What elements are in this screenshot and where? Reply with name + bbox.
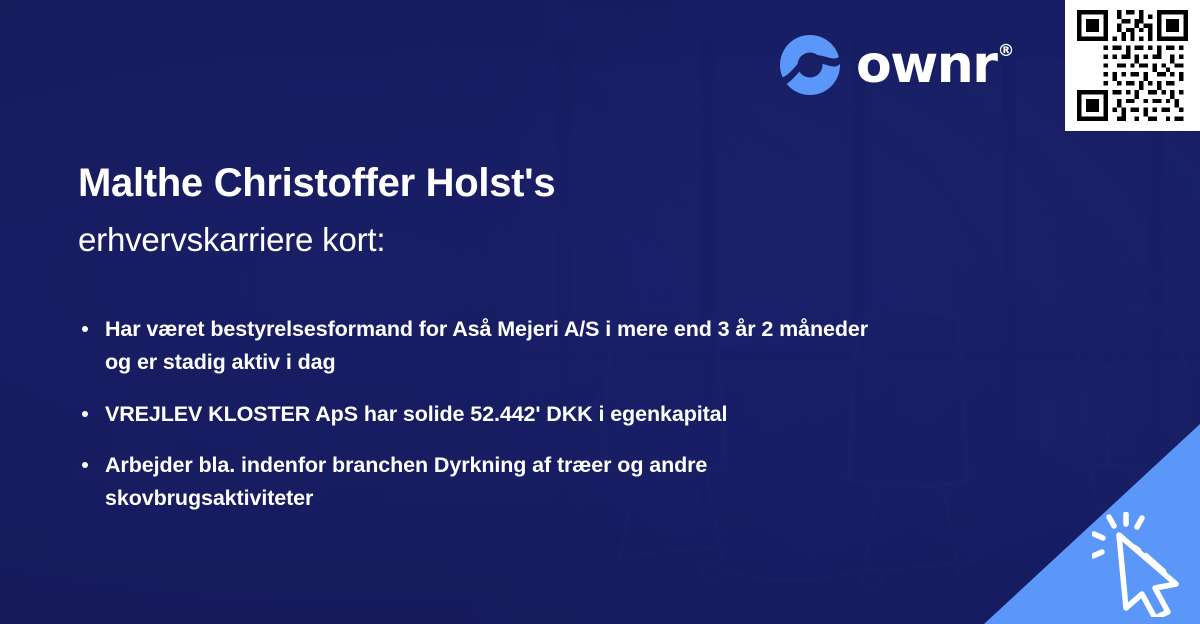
page-title: Malthe Christoffer Holst's erhvervskarri… bbox=[78, 160, 555, 260]
list-item-text: Har været bestyrelsesformand for Aså Mej… bbox=[105, 317, 868, 374]
headline-line-2: erhvervskarriere kort: bbox=[78, 219, 555, 260]
list-item: Har været bestyrelsesformand for Aså Mej… bbox=[78, 313, 898, 380]
promo-card: ownr ® bbox=[0, 0, 1200, 624]
ownr-logo[interactable]: ownr ® bbox=[778, 33, 1013, 97]
headline-line-1: Malthe Christoffer Holst's bbox=[78, 160, 555, 207]
list-item: Arbejder bla. indenfor branchen Dyrkning… bbox=[78, 449, 898, 516]
career-highlights-list: Har været bestyrelsesformand for Aså Mej… bbox=[78, 313, 898, 516]
bullet-dot-icon bbox=[82, 462, 88, 468]
list-item: VREJLEV KLOSTER ApS har solide 52.442' D… bbox=[78, 398, 898, 431]
qr-code-icon[interactable] bbox=[1065, 0, 1200, 131]
registered-trademark-icon: ® bbox=[997, 43, 1013, 60]
list-item-text: VREJLEV KLOSTER ApS har solide 52.442' D… bbox=[105, 402, 727, 426]
list-item-text: Arbejder bla. indenfor branchen Dyrkning… bbox=[105, 453, 707, 510]
mouse-click-cursor-icon bbox=[1092, 512, 1198, 617]
bullet-dot-icon bbox=[82, 326, 88, 332]
ownr-circle-swoosh-icon bbox=[778, 33, 842, 97]
logo-wordmark: ownr ® bbox=[856, 39, 1013, 91]
logo-word-text: ownr bbox=[856, 39, 996, 91]
bullet-dot-icon bbox=[82, 411, 88, 417]
